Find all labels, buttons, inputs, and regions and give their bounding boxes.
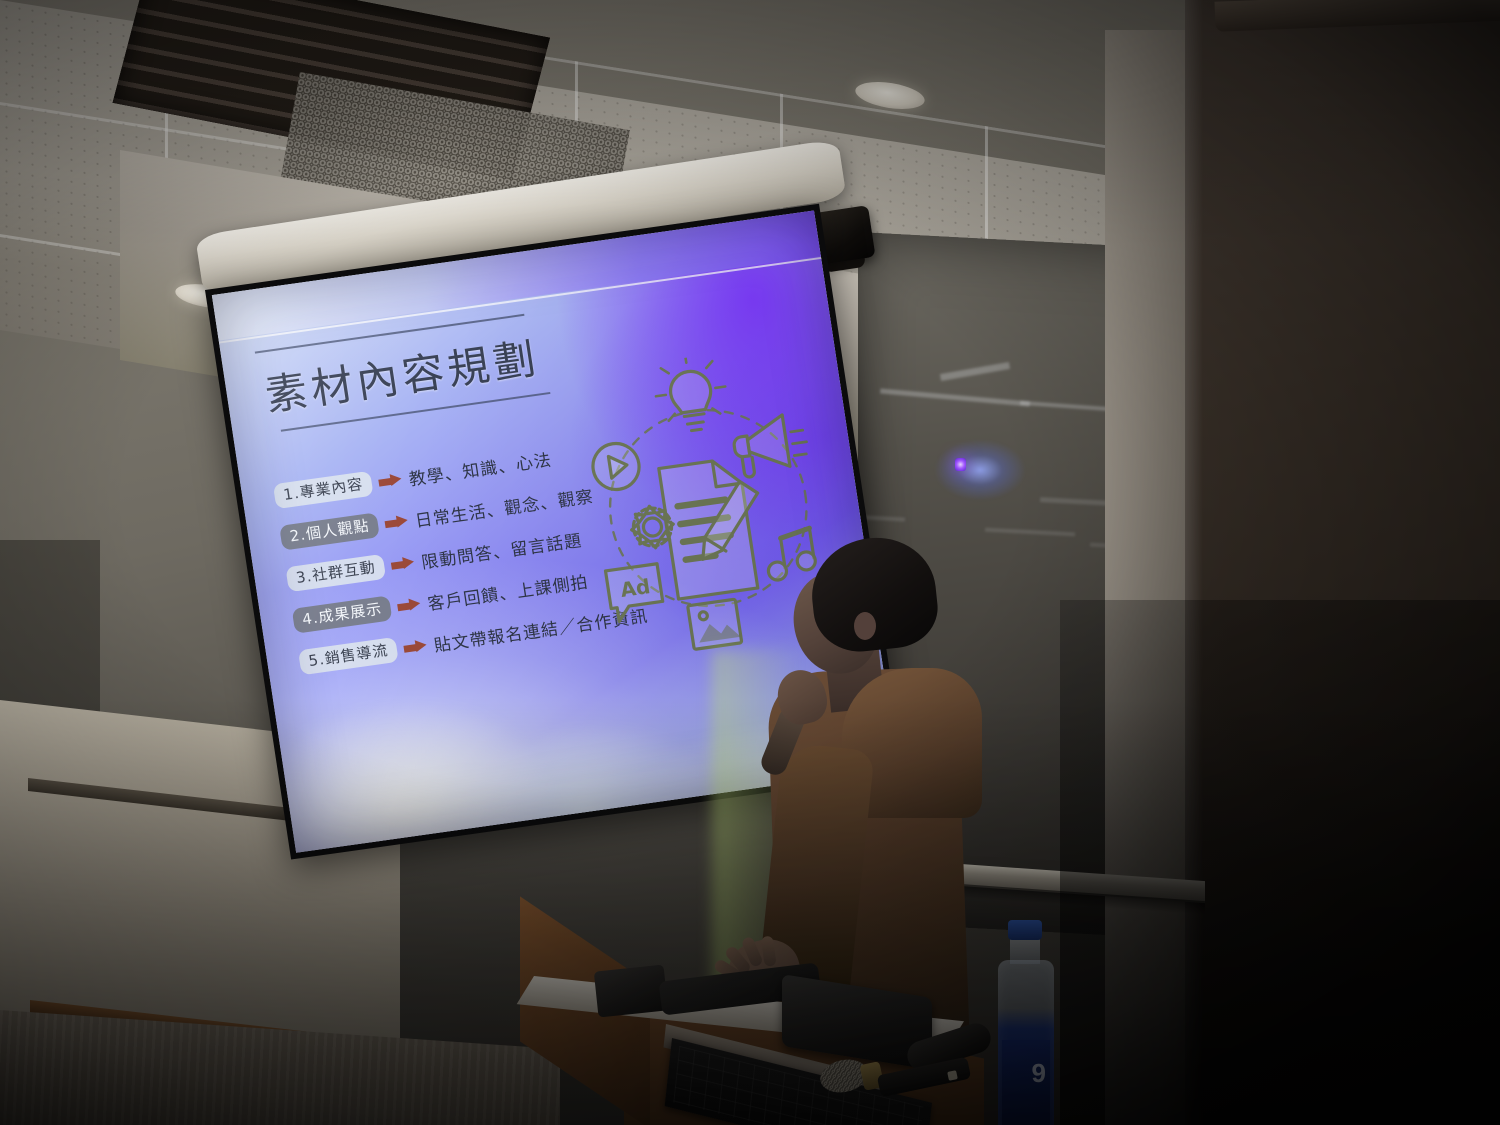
bullet-text: 限動問答、留言話題: [419, 526, 583, 573]
presenter-hair: [806, 532, 941, 656]
bottle-label: 9: [1002, 1040, 1050, 1125]
image-icon: [688, 599, 742, 649]
bullet-label: 3.社群互動: [285, 554, 386, 592]
purple-light-reflection: [955, 458, 966, 471]
bullet-text: 教學、知識、心法: [407, 446, 553, 491]
bottle-label-text: 9: [1032, 1058, 1046, 1089]
bullet-text: 客戶回饋、上課側拍: [426, 568, 590, 615]
ad-speech-bubble-icon: Ad: [606, 564, 665, 623]
blind-edge-highlight: [1185, 0, 1203, 1125]
bottle-cap: [1008, 920, 1042, 940]
arrow-right-icon: [391, 556, 416, 572]
screenshot-root: 素材內容規劃 1.專業內容 教學、知識、心法 2.個人觀點 日常生活、觀念、觀察: [0, 0, 1500, 1125]
arrow-right-icon: [378, 473, 403, 489]
arrow-right-icon: [397, 597, 422, 613]
bullet-label: 4.成果展示: [292, 595, 393, 633]
blackout-roller-blind: [1185, 0, 1500, 1125]
bullet-label: 1.專業內容: [273, 471, 374, 509]
presenter-ear: [854, 612, 876, 640]
microphone-led: [947, 1070, 958, 1081]
bullet-label: 2.個人觀點: [279, 512, 380, 550]
wooden-lectern[interactable]: 9: [520, 962, 1120, 1125]
handheld-microphone[interactable]: [820, 1058, 970, 1092]
equipment-block: [594, 964, 668, 1017]
slide-title: 素材內容規劃: [261, 322, 563, 424]
play-button-icon: [590, 441, 642, 493]
arrow-right-icon: [384, 514, 409, 530]
water-bottle[interactable]: 9: [990, 920, 1062, 1125]
bottle-neck: [1010, 938, 1040, 964]
arrow-right-icon: [403, 639, 428, 655]
window-light-glow: [935, 440, 1025, 500]
svg-text:Ad: Ad: [619, 574, 652, 602]
megaphone-icon: [731, 412, 811, 478]
bullet-text: 日常生活、觀念、觀察: [413, 482, 595, 532]
